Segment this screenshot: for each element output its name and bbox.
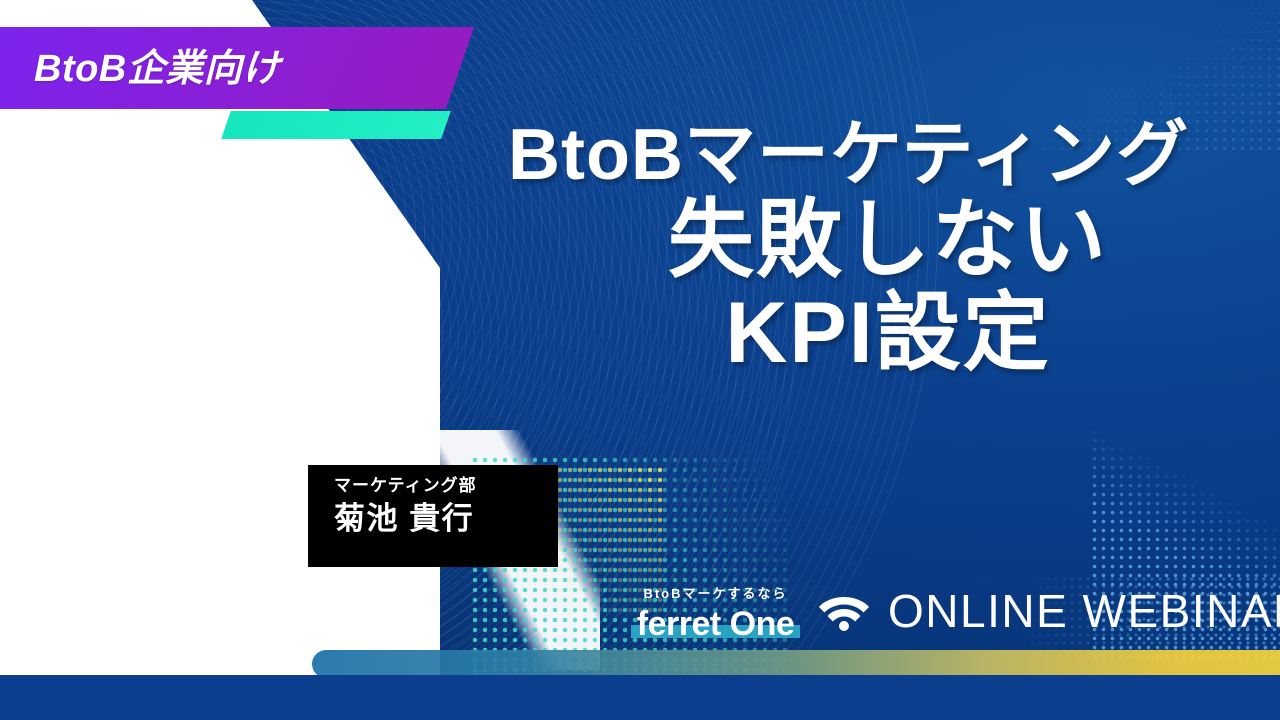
bottom-gradient-bar — [312, 650, 1280, 678]
wifi-icon — [818, 590, 870, 632]
bottom-plate — [0, 675, 1280, 720]
brand-logo: BtoBマーケするなら ferret One — [628, 586, 803, 641]
webinar-title-slide: BtoB企業向け BtoBマーケティング 失敗しない KPI設定 マーケティング… — [0, 0, 1280, 720]
speaker-name-card: マーケティング部 菊池 貴行 — [308, 465, 558, 567]
online-webinar-badge: ONLINE WEBINAR — [818, 588, 1280, 634]
speaker-name: 菊池 貴行 — [334, 498, 558, 540]
online-webinar-label: ONLINE WEBINAR — [888, 588, 1280, 634]
title-line-3: KPI設定 — [508, 288, 1268, 379]
teal-accent-bar — [221, 111, 451, 139]
brand-name: ferret One — [637, 607, 795, 641]
title-line-1: BtoBマーケティング — [508, 118, 1268, 193]
page-title: BtoBマーケティング 失敗しない KPI設定 — [508, 118, 1268, 379]
speaker-department: マーケティング部 — [334, 475, 558, 497]
title-line-2: 失敗しない — [508, 195, 1268, 286]
brand-tagline: BtoBマーケするなら — [628, 586, 803, 602]
audience-tag-label: BtoB企業向け — [34, 40, 434, 98]
